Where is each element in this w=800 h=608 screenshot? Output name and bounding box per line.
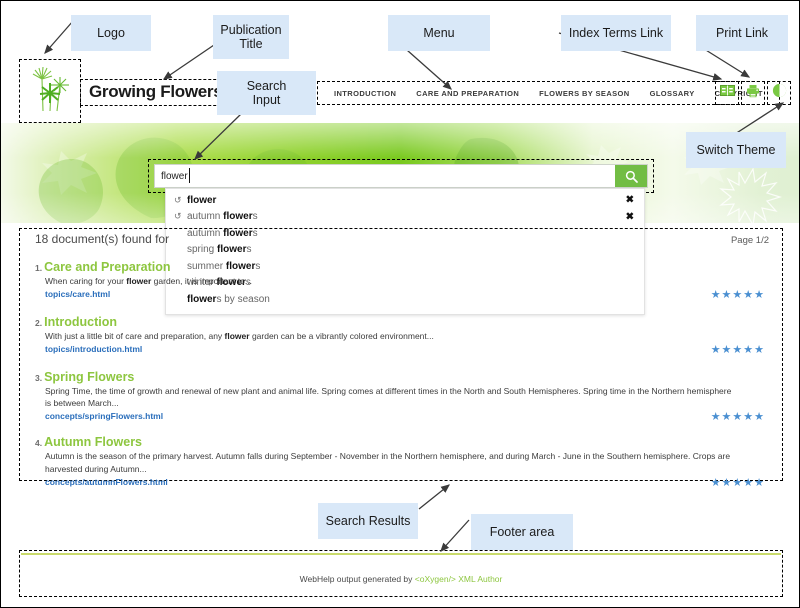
search-button[interactable] bbox=[615, 165, 647, 187]
screenshot-root: Growing Flowers INTRODUCTION CARE AND PR… bbox=[0, 0, 800, 608]
result-title-text: Spring Flowers bbox=[44, 370, 134, 384]
callout-label: Switch Theme bbox=[697, 143, 776, 157]
callout-search-input: SearchInput bbox=[217, 71, 316, 115]
callout-publication-title: PublicationTitle bbox=[213, 15, 289, 59]
suggestion-item[interactable]: ↺ autumn flowers ✖ bbox=[166, 209, 644, 226]
callout-label: Footer area bbox=[490, 525, 555, 539]
footer-text: WebHelp output generated by <oXygen/> XM… bbox=[1, 574, 800, 584]
result-item: 2.Introduction With just a little bit of… bbox=[29, 315, 773, 354]
result-number: 3. bbox=[35, 373, 42, 383]
history-icon: ↺ bbox=[174, 211, 187, 222]
menu-item-introduction[interactable]: INTRODUCTION bbox=[324, 89, 406, 98]
result-title-text: Autumn Flowers bbox=[44, 435, 142, 449]
result-description: When caring for your flower garden, it i… bbox=[35, 275, 735, 288]
result-link[interactable]: concepts/springFlowers.html bbox=[35, 411, 773, 421]
result-rating: ★★★★★ bbox=[711, 288, 765, 301]
result-description: Autumn is the season of the primary harv… bbox=[35, 450, 735, 476]
result-rating: ★★★★★ bbox=[711, 343, 765, 356]
result-title[interactable]: 3.Spring Flowers bbox=[35, 370, 773, 384]
callout-label: SearchInput bbox=[247, 79, 287, 108]
result-item: 1.Care and Preparation When caring for y… bbox=[29, 260, 773, 299]
result-item: 3.Spring Flowers Spring Time, the time o… bbox=[29, 370, 773, 422]
search-icon bbox=[625, 170, 638, 183]
result-description: Spring Time, the time of growth and rene… bbox=[35, 385, 735, 411]
callout-search-results: Search Results bbox=[318, 503, 418, 539]
result-title-text: Introduction bbox=[44, 315, 117, 329]
callout-index-terms-link: Index Terms Link bbox=[561, 15, 671, 51]
main-menu: INTRODUCTION CARE AND PREPARATION FLOWER… bbox=[317, 81, 780, 105]
footer-divider bbox=[21, 553, 781, 555]
flower-logo-icon bbox=[27, 65, 73, 117]
index-terms-icon bbox=[720, 84, 735, 102]
result-rating: ★★★★★ bbox=[711, 410, 765, 423]
search-input[interactable] bbox=[155, 165, 615, 187]
footer-text-pre: WebHelp output generated by bbox=[300, 574, 415, 584]
suggestion-label: flower bbox=[187, 195, 216, 206]
result-number: 1. bbox=[35, 263, 42, 273]
remove-suggestion-icon[interactable]: ✖ bbox=[626, 195, 634, 206]
result-number: 2. bbox=[35, 318, 42, 328]
switch-theme-button[interactable] bbox=[767, 81, 791, 105]
oxygen-brand-link[interactable]: <oXygen/> XML Author bbox=[415, 574, 503, 584]
print-icon bbox=[746, 84, 760, 103]
callout-label: Search Results bbox=[326, 514, 411, 528]
search-box[interactable] bbox=[154, 164, 648, 188]
print-link[interactable] bbox=[741, 81, 765, 105]
history-icon: ↺ bbox=[174, 195, 187, 206]
result-link[interactable]: concepts/autumnFlowers.html bbox=[35, 477, 773, 487]
result-description: With just a little bit of care and prepa… bbox=[35, 330, 735, 343]
callout-menu: Menu bbox=[388, 15, 490, 51]
text-caret bbox=[189, 168, 190, 183]
logo[interactable] bbox=[19, 59, 81, 123]
callout-label: Logo bbox=[97, 26, 125, 40]
menu-item-care-and-preparation[interactable]: CARE AND PREPARATION bbox=[406, 89, 529, 98]
callout-label: PublicationTitle bbox=[220, 23, 281, 52]
callout-label: Menu bbox=[423, 26, 454, 40]
suggestion-item[interactable]: ↺ flower ✖ bbox=[166, 192, 644, 209]
index-terms-link[interactable] bbox=[715, 81, 739, 105]
switch-theme-icon bbox=[772, 83, 787, 103]
page-title: Growing Flowers bbox=[80, 79, 231, 106]
results-count: 18 document(s) found for bbox=[35, 232, 169, 246]
result-link[interactable]: topics/introduction.html bbox=[35, 344, 773, 354]
remove-suggestion-icon[interactable]: ✖ bbox=[626, 211, 634, 222]
result-title[interactable]: 2.Introduction bbox=[35, 315, 773, 329]
results-header: 18 document(s) found for Page 1/2 bbox=[29, 232, 773, 246]
callout-label: Index Terms Link bbox=[569, 26, 663, 40]
menu-item-glossary[interactable]: GLOSSARY bbox=[640, 89, 705, 98]
callout-print-link: Print Link bbox=[696, 15, 788, 51]
suggestion-label: autumn flowers bbox=[187, 211, 258, 222]
result-rating: ★★★★★ bbox=[711, 476, 765, 489]
callout-switch-theme: Switch Theme bbox=[686, 132, 786, 168]
callout-label: Print Link bbox=[716, 26, 768, 40]
result-link[interactable]: topics/care.html bbox=[35, 289, 773, 299]
result-title[interactable]: 4.Autumn Flowers bbox=[35, 435, 773, 449]
callout-logo: Logo bbox=[71, 15, 151, 51]
result-item: 4.Autumn Flowers Autumn is the season of… bbox=[29, 435, 773, 487]
result-title-text: Care and Preparation bbox=[44, 260, 170, 274]
search-results: 18 document(s) found for Page 1/2 1.Care… bbox=[29, 232, 773, 487]
result-number: 4. bbox=[35, 438, 42, 448]
page-indicator: Page 1/2 bbox=[731, 235, 769, 246]
callout-footer-area: Footer area bbox=[471, 514, 573, 550]
menu-item-flowers-by-season[interactable]: FLOWERS BY SEASON bbox=[529, 89, 639, 98]
result-title[interactable]: 1.Care and Preparation bbox=[35, 260, 773, 274]
